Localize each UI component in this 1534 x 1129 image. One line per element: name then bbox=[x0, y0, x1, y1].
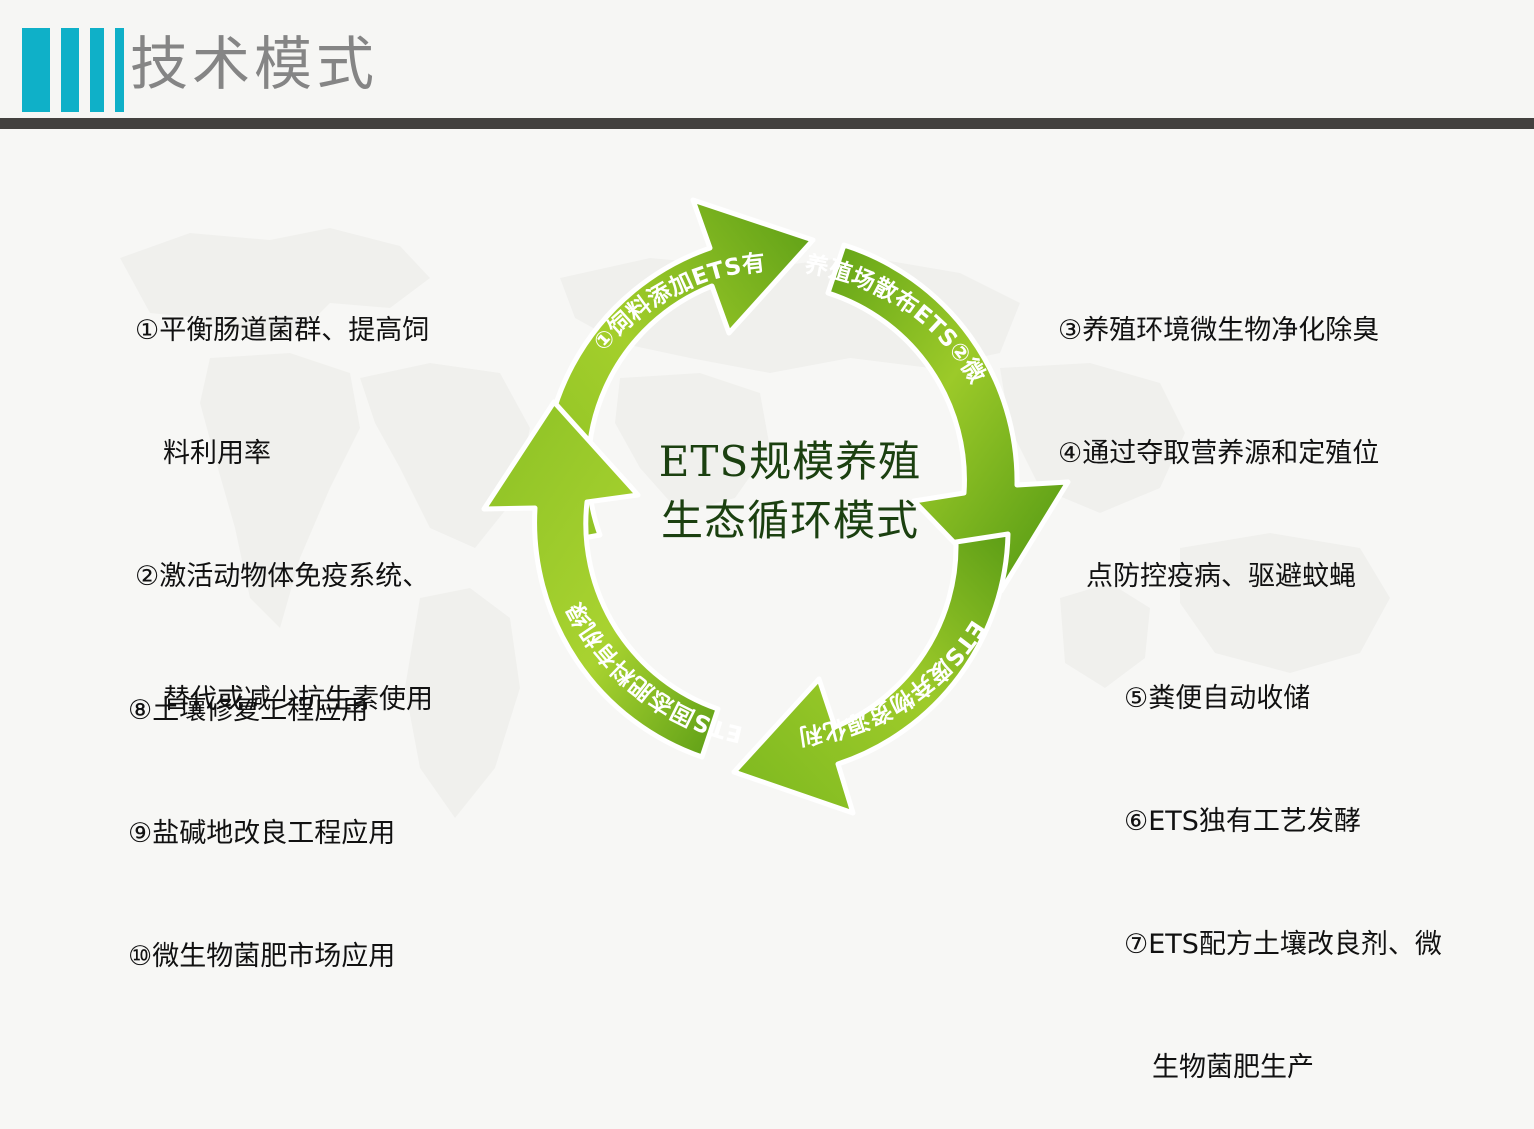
accent-bar-1 bbox=[22, 28, 50, 112]
note-line: 生物菌肥生产 bbox=[1124, 1047, 1442, 1088]
note-line: 点防控疫病、驱避蚊蝇 bbox=[1058, 556, 1379, 597]
note-line: ⑨盐碱地改良工程应用 bbox=[128, 813, 395, 854]
note-line: 料利用率 bbox=[135, 433, 433, 474]
note-block-top-right: ③养殖环境微生物净化除臭 ④通过夺取营养源和定殖位 点防控疫病、驱避蚊蝇 bbox=[1058, 228, 1379, 638]
note-line: ③养殖环境微生物净化除臭 bbox=[1058, 310, 1379, 351]
center-title-line-1: ETS规模养殖 bbox=[610, 432, 970, 491]
accent-bar-4 bbox=[115, 28, 124, 112]
note-line: ①平衡肠道菌群、提高饲 bbox=[135, 310, 433, 351]
note-line: ⑧土壤修复工程应用 bbox=[128, 690, 395, 731]
note-line: ⑤粪便自动收储 bbox=[1124, 678, 1442, 719]
header-accent-bars bbox=[22, 28, 124, 112]
note-line: ⑩微生物菌肥市场应用 bbox=[128, 936, 395, 977]
note-line: ⑥ETS独有工艺发酵 bbox=[1124, 801, 1442, 842]
center-title-line-2: 生态循环模式 bbox=[610, 491, 970, 550]
note-block-bottom-left: ⑧土壤修复工程应用 ⑨盐碱地改良工程应用 ⑩微生物菌肥市场应用 bbox=[128, 608, 395, 1018]
note-line: ⑦ETS配方土壤改良剂、微 bbox=[1124, 924, 1442, 965]
cycle-center-title: ETS规模养殖 生态循环模式 bbox=[610, 432, 970, 550]
page-header: 技术模式 bbox=[0, 0, 1534, 128]
header-divider bbox=[0, 118, 1534, 129]
page-title: 技术模式 bbox=[130, 20, 378, 108]
accent-bar-2 bbox=[61, 28, 79, 112]
accent-bar-3 bbox=[90, 28, 104, 112]
note-line: ②激活动物体免疫系统、 bbox=[135, 556, 433, 597]
note-line: ④通过夺取营养源和定殖位 bbox=[1058, 433, 1379, 474]
